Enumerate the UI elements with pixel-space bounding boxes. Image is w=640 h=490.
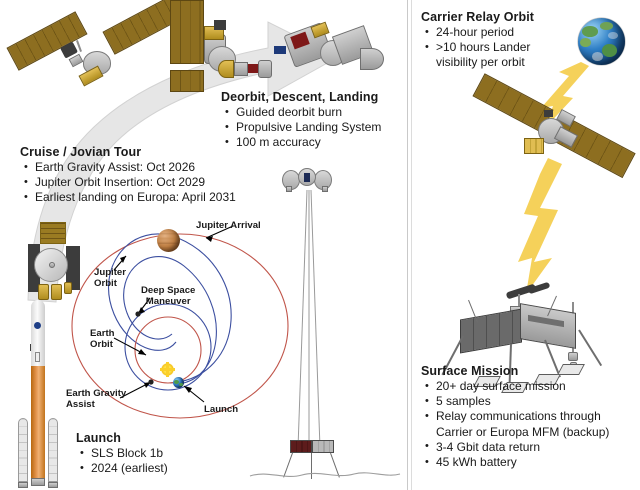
comm-beam-carrier-to-lander (518, 158, 584, 294)
deorbit-bullet-1: Propulsive Landing System (221, 120, 411, 135)
deorbit-vehicle-separation (218, 52, 278, 92)
label-jupiter-orbit: Jupiter Orbit (94, 267, 126, 289)
deorbit-heading: Deorbit, Descent, Landing (221, 90, 411, 105)
label-earth-orbit: Earth Orbit (90, 328, 115, 350)
surface-bullet-2: Relay communications through (421, 409, 636, 424)
descent-stage-tethers (292, 190, 328, 448)
surface-bullet-3: Carrier or Europa MFM (backup) (421, 425, 636, 440)
carrier-heading: Carrier Relay Orbit (421, 10, 581, 25)
carrier-bullet-1: >10 hours Lander (421, 40, 581, 55)
cruise-bullet-1: Jupiter Orbit Insertion: Oct 2029 (20, 175, 280, 190)
surface-heading: Surface Mission (421, 364, 636, 379)
earth-planet-small (173, 377, 184, 388)
carrier-bullet-0: 24-hour period (421, 25, 581, 40)
surface-bullet-4: 3-4 Gbit data return (421, 440, 636, 455)
cruise-bullet-2: Earliest landing on Europa: April 2031 (20, 190, 280, 205)
cruise-bullet-0: Earth Gravity Assist: Oct 2026 (20, 160, 280, 175)
sun (161, 363, 174, 376)
cruise-jovian-tour-section: Cruise / Jovian Tour Earth Gravity Assis… (20, 145, 280, 206)
launch-section: Launch SLS Block 1b 2024 (earliest) (76, 431, 226, 476)
surface-mission-section: Surface Mission 20+ day surface mission … (421, 364, 636, 470)
deorbit-bullet-0: Guided deorbit burn (221, 105, 411, 120)
deorbit-vehicle-stack (170, 0, 400, 100)
cruise-heading: Cruise / Jovian Tour (20, 145, 280, 160)
surface-bullet-5: 45 kWh battery (421, 455, 636, 470)
sls-block-1b-rocket (6, 300, 70, 490)
panel-divider-right (411, 0, 412, 490)
jupiter-planet (157, 229, 180, 252)
label-launch-event: Launch (204, 404, 238, 415)
surface-bullet-0: 20+ day surface mission (421, 379, 636, 394)
surface-bullet-1: 5 samples (421, 394, 636, 409)
label-jupiter-arrival: Jupiter Arrival (196, 220, 261, 231)
launch-heading: Launch (76, 431, 226, 446)
label-deep-space-maneuver: Deep Space Maneuver (141, 285, 195, 307)
europa-lander-mission-infographic: Deorbit, Descent, Landing Guided deorbit… (0, 0, 640, 490)
panel-divider-left (407, 0, 408, 490)
launch-bullet-1: 2024 (earliest) (76, 461, 226, 476)
deorbit-descent-landing-section: Deorbit, Descent, Landing Guided deorbit… (221, 90, 411, 151)
label-earth-gravity-assist: Earth Gravity Assist (66, 388, 126, 410)
launch-bullet-0: SLS Block 1b (76, 446, 226, 461)
earth-globe (578, 18, 625, 65)
europa-surface-line (250, 466, 400, 486)
